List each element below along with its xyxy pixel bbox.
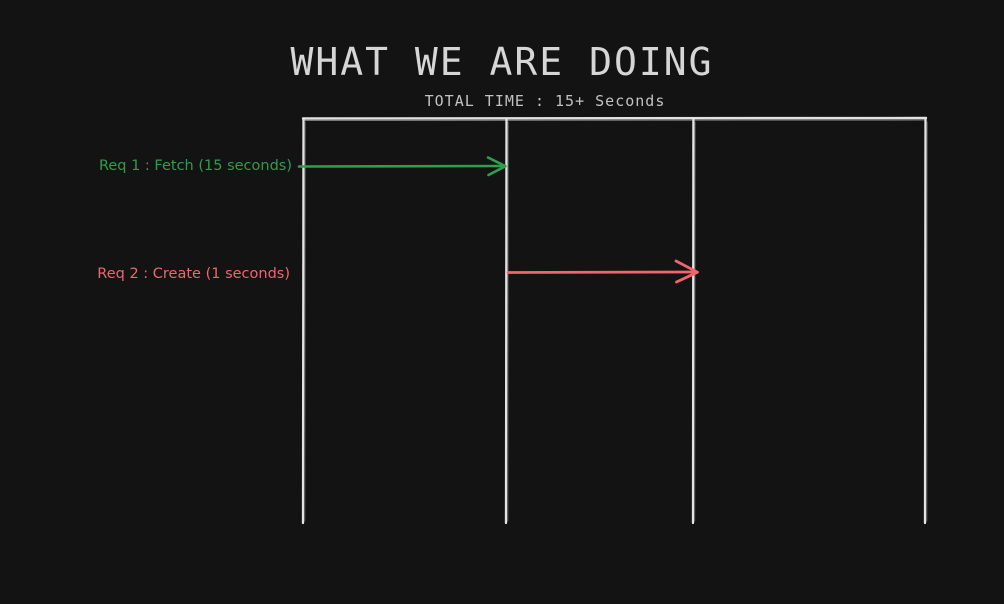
gridline-2 bbox=[506, 119, 508, 523]
slide-canvas: WHAT WE ARE DOING TOTAL TIME : 15+ Secon… bbox=[0, 0, 1004, 604]
timeline-top-rule bbox=[303, 118, 926, 121]
gridline-1 bbox=[303, 119, 305, 523]
request-2-arrow bbox=[508, 261, 698, 282]
gridline-4 bbox=[925, 119, 927, 523]
request-1-arrow bbox=[299, 158, 506, 176]
page-title: WHAT WE ARE DOING bbox=[291, 40, 714, 84]
timeline-diagram: WHAT WE ARE DOING TOTAL TIME : 15+ Secon… bbox=[0, 0, 1004, 604]
total-time-subtitle: TOTAL TIME : 15+ Seconds bbox=[425, 92, 666, 110]
request-2-label: Req 2 : Create (1 seconds) bbox=[97, 266, 290, 282]
gridline-3 bbox=[693, 119, 695, 523]
request-1-label: Req 1 : Fetch (15 seconds) bbox=[99, 158, 292, 174]
timeline-gridlines bbox=[303, 119, 927, 523]
